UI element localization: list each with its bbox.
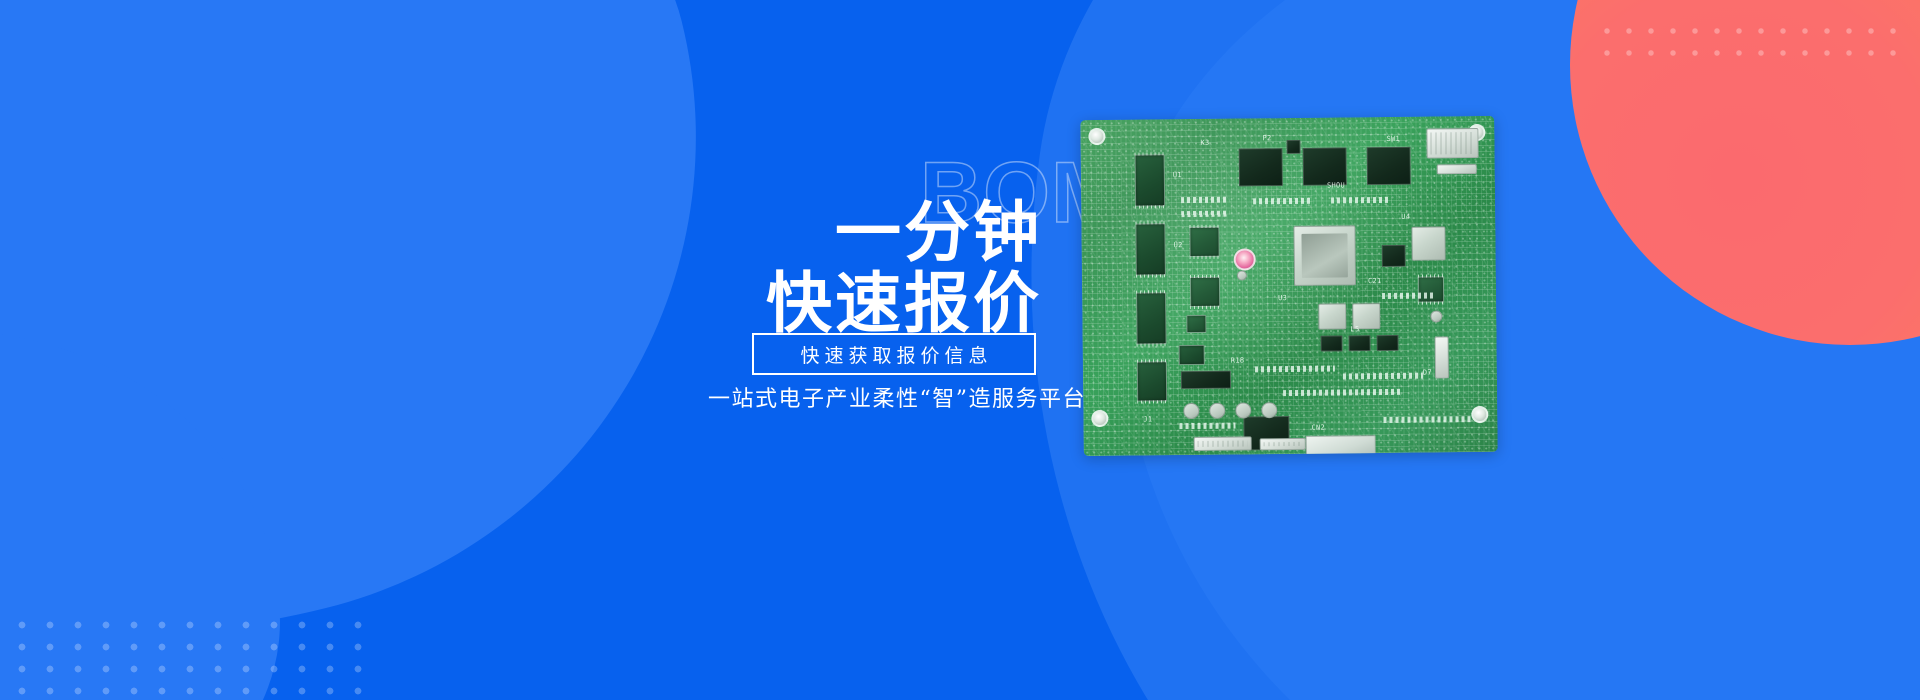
- dot-grid-bottom-left: [8, 614, 376, 700]
- tagline-text: 快速获取报价信息: [795, 341, 992, 368]
- pcb-substrate: SHOU U1 U2 U3 U4 C21 R18 J1 CN2 L5 D7 K3…: [1080, 116, 1497, 456]
- small-ic: [1179, 345, 1205, 365]
- connector: [1435, 336, 1449, 378]
- silk-label: CN2: [1311, 424, 1325, 432]
- resistor-array: [1179, 423, 1235, 430]
- resistor-array: [1255, 366, 1335, 373]
- ic-chip: [1190, 277, 1220, 307]
- resistor-array: [1343, 373, 1423, 380]
- resistor-array: [1382, 292, 1434, 299]
- resistor-array: [1331, 197, 1391, 204]
- subtitle: 一站式电子产业柔性“智”造服务平台: [686, 381, 1086, 413]
- silk-label: U2: [1174, 241, 1183, 249]
- mounting-hole: [1091, 410, 1108, 427]
- silk-label: C21: [1368, 277, 1382, 285]
- capacitor: [1430, 310, 1442, 322]
- silk-label: U3: [1278, 294, 1287, 302]
- resistor-array: [1181, 197, 1229, 204]
- blue-wave-shape-left: [0, 0, 799, 700]
- silk-label: R18: [1231, 356, 1245, 364]
- capacitor: [1209, 403, 1225, 419]
- ic-chip: [1239, 148, 1283, 186]
- dot-grid-top-right: [1596, 20, 1908, 64]
- audio-jack: [1234, 248, 1256, 270]
- small-ic: [1186, 315, 1206, 333]
- mounting-hole: [1471, 406, 1488, 423]
- headline: 一分钟 快速报价: [752, 200, 1042, 335]
- resistor-array: [1283, 389, 1403, 396]
- silk-label: K3: [1200, 139, 1209, 147]
- memory-chip: [1135, 223, 1166, 275]
- memory-chip: [1136, 292, 1167, 344]
- capacitor: [1235, 402, 1251, 418]
- edge-connector: [1426, 128, 1478, 159]
- tagline-box: 快速获取报价信息: [752, 333, 1036, 375]
- capacitor: [1261, 402, 1277, 418]
- connector: [1194, 436, 1252, 451]
- connector: [1260, 438, 1306, 450]
- headline-line-2: 快速报价: [752, 271, 1042, 336]
- memory-chip: [1137, 361, 1167, 401]
- bga-processor: [1293, 225, 1356, 286]
- ic-chip: [1411, 226, 1445, 260]
- resistor-array: [1383, 416, 1473, 423]
- small-ic: [1286, 140, 1300, 154]
- small-ic: [1377, 335, 1399, 351]
- bga-die: [1301, 233, 1347, 277]
- silk-label: P2: [1262, 134, 1271, 142]
- ic-chip: [1303, 147, 1347, 185]
- connector: [1437, 164, 1477, 174]
- silk-label: L5: [1350, 325, 1359, 333]
- resistor-array: [1181, 211, 1229, 218]
- ic-chip: [1367, 147, 1411, 185]
- silk-label: U4: [1401, 213, 1410, 221]
- blue-wave-shape-left-lower: [0, 330, 280, 700]
- ic-chip: [1181, 371, 1231, 390]
- mounting-hole: [1088, 128, 1105, 145]
- small-ic: [1382, 245, 1406, 267]
- pcb-circuit-board-image: SHOU U1 U2 U3 U4 C21 R18 J1 CN2 L5 D7 K3…: [1080, 116, 1497, 456]
- capacitor: [1183, 403, 1199, 419]
- inductor: [1318, 303, 1346, 329]
- capacitor: [1237, 270, 1247, 280]
- resistor-array: [1253, 198, 1313, 205]
- silk-label: SHOU: [1327, 181, 1345, 189]
- silk-label: U1: [1173, 171, 1182, 179]
- promo-banner: BOMBOM: [0, 0, 1920, 700]
- small-ic: [1321, 335, 1343, 351]
- connector-tab: [1306, 435, 1376, 456]
- silk-label: D7: [1423, 369, 1432, 377]
- silk-label: SW1: [1386, 135, 1400, 143]
- silk-label: J1: [1143, 415, 1152, 423]
- headline-line-1: 一分钟: [752, 200, 1042, 265]
- coral-circle: [1570, 0, 1920, 345]
- ic-chip: [1189, 227, 1219, 257]
- memory-chip: [1135, 154, 1166, 206]
- small-ic: [1349, 335, 1371, 351]
- ic-chip: [1418, 276, 1444, 302]
